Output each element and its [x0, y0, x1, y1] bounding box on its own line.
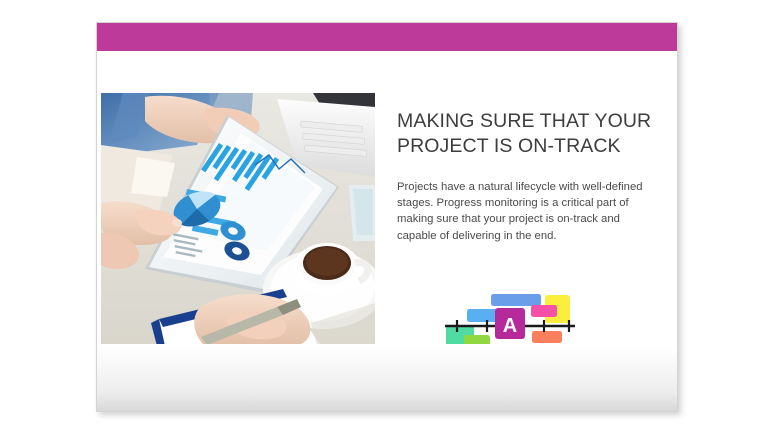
gantt-milestone-label: A [503, 315, 517, 337]
text-column: MAKING SURE THAT YOUR PROJECT IS ON-TRAC… [397, 109, 653, 244]
gantt-bar-pink-right [531, 305, 557, 317]
slide-footer-gradient [97, 344, 677, 411]
slide-photo [101, 93, 375, 346]
gantt-bar-blue-top [491, 294, 541, 306]
gantt-bar-blue-left [467, 309, 497, 322]
gantt-bar-orange-right [532, 331, 562, 343]
slide-title: MAKING SURE THAT YOUR PROJECT IS ON-TRAC… [397, 109, 653, 159]
slide-card: MAKING SURE THAT YOUR PROJECT IS ON-TRAC… [96, 22, 678, 412]
slide-body-text: Projects have a natural lifecycle with w… [397, 179, 653, 244]
photo-illustration [101, 93, 375, 346]
header-band [97, 23, 677, 51]
